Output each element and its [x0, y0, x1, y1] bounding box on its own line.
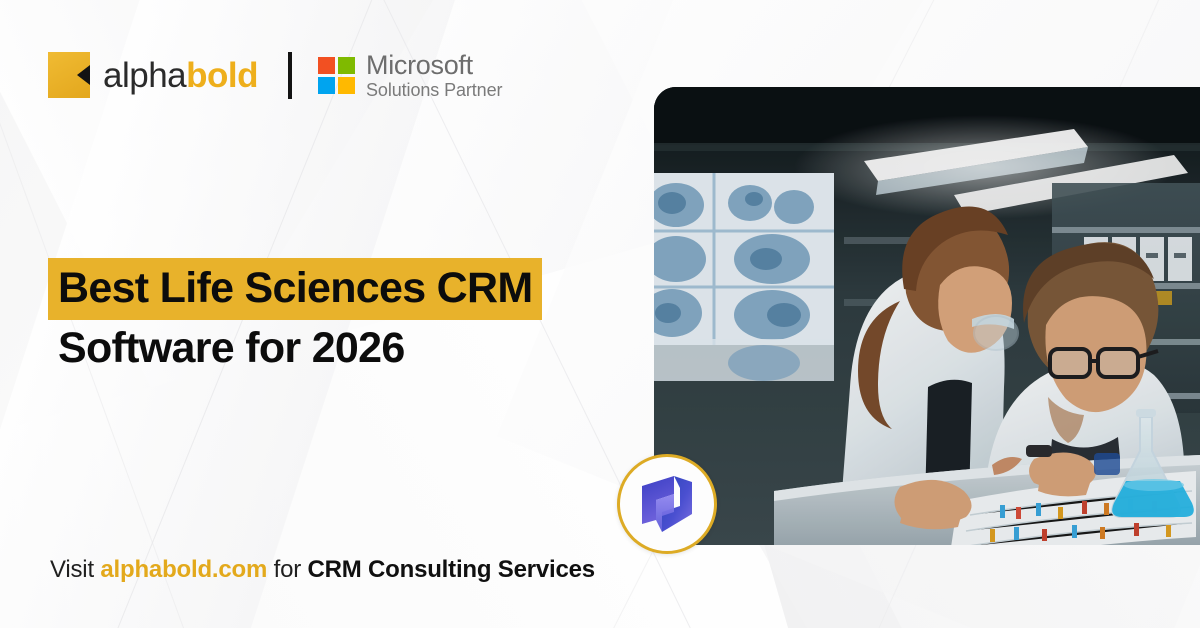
- alphabold-wordmark-bold: bold: [186, 56, 258, 95]
- dynamics-365-logo-icon: [640, 474, 694, 534]
- laboratory-scene-illustration: [654, 87, 1200, 545]
- microsoft-solutions-partner-logo[interactable]: Microsoft Solutions Partner: [318, 50, 502, 100]
- headline-block: Best Life Sciences CRM Software for 2026: [48, 258, 542, 370]
- microsoft-four-squares-icon: [318, 57, 355, 94]
- laboratory-photo: [654, 87, 1200, 545]
- footer-domain-link[interactable]: alphabold.com: [100, 556, 267, 583]
- microsoft-title: Microsoft: [366, 50, 502, 80]
- alphabold-logo[interactable]: alphabold: [48, 52, 258, 98]
- footer-visit-label: Visit: [50, 556, 94, 583]
- alphabold-mark-icon: [48, 52, 90, 98]
- vertical-divider-icon: [288, 52, 292, 99]
- alphabold-wordmark-alpha: alpha: [103, 56, 186, 95]
- footer-cta: Visit alphabold.com for CRM Consulting S…: [50, 556, 595, 584]
- logo-row: alphabold Microsoft Solutions Partner: [48, 50, 502, 100]
- dynamics-365-badge: [617, 454, 717, 554]
- alphabold-wordmark: alphabold: [103, 58, 258, 93]
- marketing-banner: alphabold Microsoft Solutions Partner Be…: [0, 0, 1200, 628]
- footer-for-label: for: [274, 556, 301, 583]
- microsoft-subtitle: Solutions Partner: [366, 80, 502, 100]
- headline-line-1: Best Life Sciences CRM: [48, 258, 542, 320]
- headline-line-2: Software for 2026: [48, 327, 542, 370]
- footer-service-label: CRM Consulting Services: [308, 556, 595, 583]
